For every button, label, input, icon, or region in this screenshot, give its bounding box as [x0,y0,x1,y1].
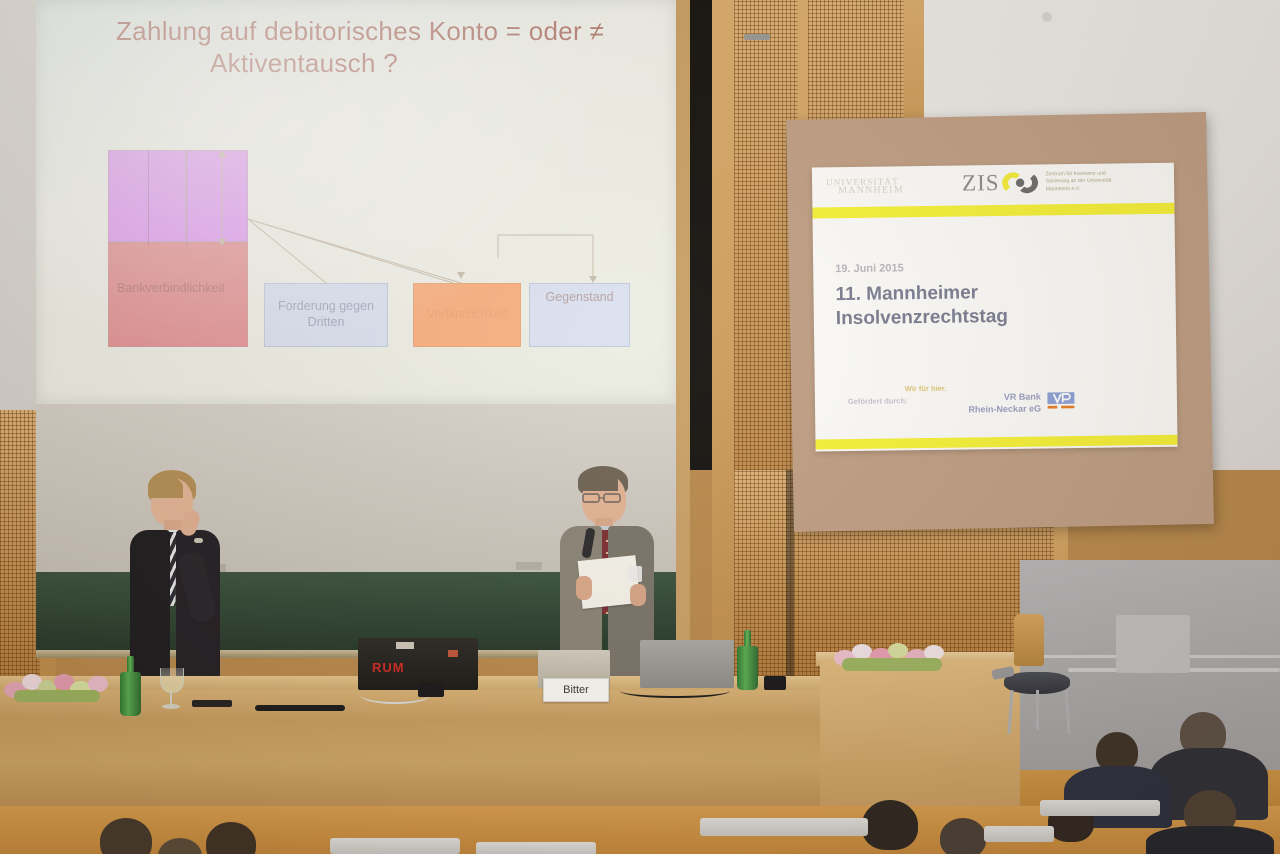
flower-arrangement-podium [830,638,956,672]
audience-bench [700,818,868,836]
zis-subtitle: Zentrum für Insolvenz und Sanierung an d… [1045,170,1123,194]
board-clip-right [516,562,542,570]
lecture-hall-photo: Zahlung auf debitorisches Konto = oder ≠… [0,0,1280,854]
laptop-dark: RUM [358,638,478,690]
zis-wordmark: ZIS [962,170,1000,196]
remote-control [192,700,232,707]
university-logo: UNIVERSITÄT MANNHEIM [826,176,904,196]
speaker-right-hairline [580,471,618,491]
sponsor-name-line2: Rhein-Neckar eG [963,403,1041,416]
slide-headline-line1: 11. Mannheimer [835,281,1007,308]
slide-accent-bar-top [812,203,1174,219]
eyeglasses-icon [580,492,628,504]
acoustic-panel-left-edge [0,410,40,710]
wall-panel-right [1116,615,1190,673]
speaker-right-badge [628,566,642,582]
title-slide: UNIVERSITÄT MANNHEIM ZIS Zentrum für Ins… [812,163,1178,452]
university-logo-line2: MANNHEIM [838,184,904,196]
left-wall-plaster [0,0,40,420]
slide-date: 19. Juni 2015 [835,262,904,275]
sponsor-slogan: Wir für hier. [905,384,947,394]
flower-arrangement-left [0,666,120,702]
wall-trim-right [676,0,690,690]
slide-accent-bar-bottom [815,435,1177,450]
audience-bench [476,842,596,854]
audience-bench [330,838,460,854]
wall-dark-slot [690,0,712,470]
nameplate: Bitter [543,678,609,702]
zis-logo: ZIS Zentrum für Insolvenz und Sanierung … [962,168,1124,196]
vr-bank-logo-icon [1047,392,1075,410]
sponsor-name-line1: VR Bank [963,392,1041,405]
audience-bench [984,826,1054,842]
sponsor-name: VR Bank Rhein-Neckar eG [963,392,1041,416]
zis-emblem-icon [999,170,1039,197]
podium-front [820,660,1020,820]
speaker-left-jacket-left [130,530,170,690]
speaker-left-hairline [149,476,183,498]
wall-fixture-icon [744,34,770,40]
speaker-left-watch [194,538,203,543]
speaker-right-hand-right [630,584,646,606]
slide-headline-line2: Insolvenzrechtstag [836,305,1008,332]
laptop-logo: RUM [372,660,405,675]
projection-board-right: UNIVERSITÄT MANNHEIM ZIS Zentrum für Ins… [786,112,1214,532]
slide-headline: 11. Mannheimer Insolvenzrechtstag [835,281,1008,332]
laptop-silver-right [640,640,734,688]
slide-header: UNIVERSITÄT MANNHEIM ZIS Zentrum für Ins… [812,163,1174,206]
wall-trim-mid [712,0,734,690]
audience-head [940,818,986,854]
microphone-stand-left [255,705,345,711]
audience-bench [1040,800,1160,816]
adapter-right [764,676,786,690]
audience-head [862,800,918,850]
power-adapter [418,683,444,697]
ceiling-dot-icon [1042,12,1052,22]
sponsor-label: Gefördert durch: [848,396,908,406]
speaker-right-hand-left [576,576,592,600]
diagram-connectors [36,0,676,404]
cable-black [620,684,730,698]
projection-screen-left: Zahlung auf debitorisches Konto = oder ≠… [36,0,676,404]
audience-body [1146,826,1274,854]
